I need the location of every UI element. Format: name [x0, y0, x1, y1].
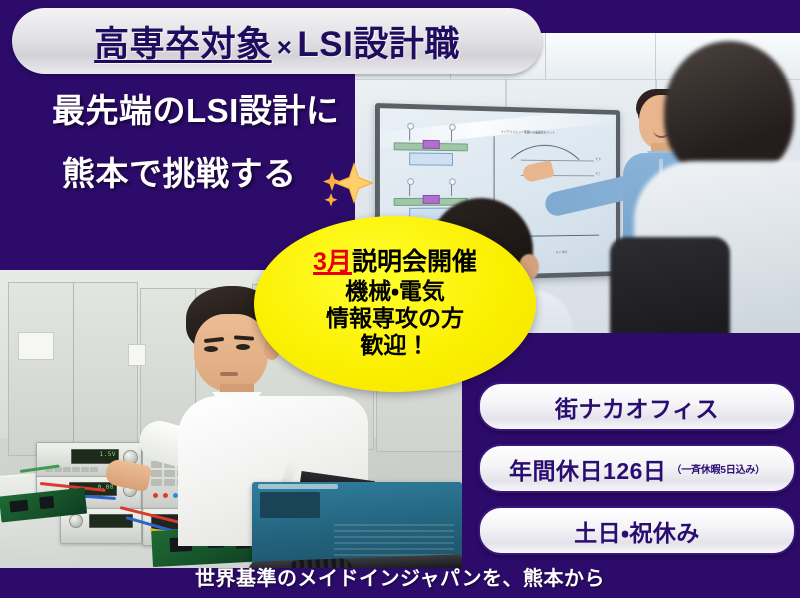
event-headline: 3月説明会開催 [313, 249, 477, 277]
event-label: 説明会開催 [352, 248, 477, 276]
sparkles-icon [322, 160, 376, 208]
benefit-badge-office: 街ナカオフィス [478, 382, 796, 431]
benefit-badge-holidays-note: （一斉休暇5日込み） [671, 461, 765, 476]
title-banner: 高専卒対象×LSI設計職 [12, 8, 542, 74]
audience-foreground-right [630, 41, 800, 333]
title-underlined-part: 高専卒対象 [94, 25, 272, 64]
benefit-badge-weekends-label: 土日・祝休み [574, 514, 700, 548]
benefit-badge-holidays-label: 年間休日126日 [509, 452, 666, 486]
headline-line-2: 熊本で挑戦する [52, 157, 339, 190]
title-rest-part: LSI設計職 [297, 25, 459, 64]
event-month: 3月 [313, 248, 352, 276]
title-banner-text: 高専卒対象×LSI設計職 [94, 16, 460, 67]
benefit-badge-holidays: 年間休日126日 （一斉休暇5日込み） [478, 444, 796, 493]
benefit-badge-list: 街ナカオフィス 年間休日126日 （一斉休暇5日込み） 土日・祝休み [478, 382, 796, 555]
recruitment-ad-banner: インテリジェント電源ICの最適化ポイント V_o V_i 入力電圧 [V] η … [0, 0, 800, 598]
event-body-line-1: 機械・電気 [345, 278, 445, 305]
headline: 最先端のLSI設計に 熊本で挑戦する [52, 94, 339, 190]
headline-line-1: 最先端のLSI設計に [52, 92, 339, 129]
benefit-badge-office-label: 街ナカオフィス [555, 390, 719, 424]
event-body-line-2: 情報専攻の方 [326, 305, 464, 332]
event-body-line-3: 歓迎！ [361, 332, 430, 359]
event-callout-oval: 3月説明会開催 機械・電気 情報専攻の方 歓迎！ [254, 216, 536, 392]
benefit-badge-weekends: 土日・祝休み [478, 506, 796, 555]
title-separator: × [272, 32, 298, 62]
footer-caption: 世界基準のメイドインジャパンを、熊本から [0, 562, 800, 591]
